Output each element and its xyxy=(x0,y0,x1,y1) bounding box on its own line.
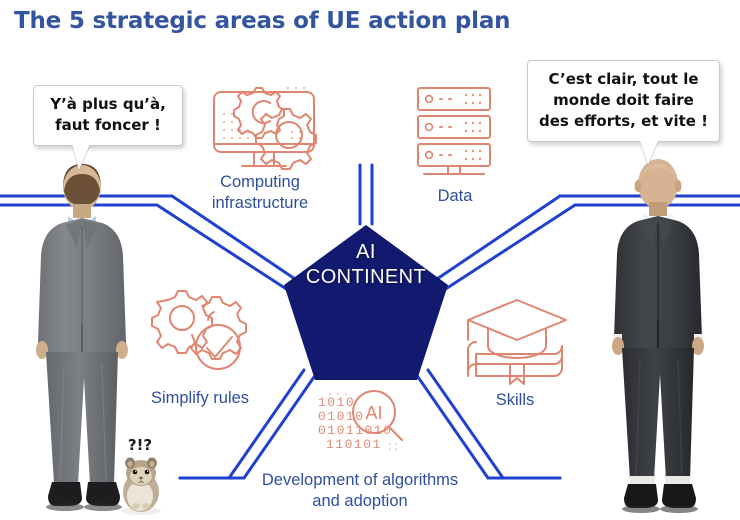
svg-text:AI: AI xyxy=(365,403,382,423)
center-pentagon-label: AI CONTINENT xyxy=(296,240,436,290)
binary-ai-magnifier-icon: 1010 01010 01011010 110101 AI xyxy=(318,391,402,452)
graduation-cap-book-icon xyxy=(468,300,566,384)
svg-text:01011010: 01011010 xyxy=(318,423,392,438)
person-left-illustration xyxy=(36,164,128,511)
speech-bubble-right-line3: des efforts, et vite ! xyxy=(534,111,713,132)
svg-text:01010: 01010 xyxy=(318,409,365,424)
area-label-simplify-rules: Simplify rules xyxy=(120,388,280,409)
area-label-skills-line1: Skills xyxy=(460,390,570,411)
area-label-algorithms-line1: Development of algorithms xyxy=(230,470,490,491)
gears-checkmark-icon xyxy=(152,291,246,369)
monitor-gears-icon xyxy=(214,87,316,169)
server-rack-icon xyxy=(418,88,490,174)
ray-lower-left xyxy=(180,370,314,478)
center-label-line2: CONTINENT xyxy=(296,265,436,290)
hamster-illustration xyxy=(121,458,161,516)
speech-bubble-right-line1: C’est clair, tout le xyxy=(534,69,713,90)
speech-bubble-left-line2: faut foncer ! xyxy=(40,115,176,136)
area-label-simplify-line1: Simplify rules xyxy=(120,388,280,409)
area-label-skills: Skills xyxy=(460,390,570,411)
hamster-thought-text: ?!? xyxy=(112,436,168,454)
area-label-data: Data xyxy=(400,186,510,207)
speech-bubble-left: Y’à plus qu’à, faut foncer ! xyxy=(33,85,183,146)
slide-root: The 5 strategic areas of UE action plan … xyxy=(0,0,740,520)
speech-bubble-left-tail xyxy=(72,144,90,170)
area-label-data-line1: Data xyxy=(400,186,510,207)
area-label-computing-line2: infrastructure xyxy=(180,193,340,214)
ray-top xyxy=(360,165,372,224)
center-label-line1: AI xyxy=(296,240,436,265)
area-label-computing: Computing infrastructure xyxy=(180,172,340,214)
speech-bubble-right: C’est clair, tout le monde doit faire de… xyxy=(527,60,720,142)
speech-bubble-right-line2: monde doit faire xyxy=(534,90,713,111)
svg-text:1010: 1010 xyxy=(318,395,355,410)
area-label-computing-line1: Computing xyxy=(180,172,340,193)
ray-lower-right xyxy=(418,370,560,478)
person-right-illustration xyxy=(612,159,704,513)
speech-bubble-right-tail xyxy=(640,141,658,165)
area-label-algorithms: Development of algorithms and adoption xyxy=(230,470,490,512)
speech-bubble-left-line1: Y’à plus qu’à, xyxy=(40,94,176,115)
svg-text:110101: 110101 xyxy=(326,437,382,452)
area-label-algorithms-line2: and adoption xyxy=(230,491,490,512)
